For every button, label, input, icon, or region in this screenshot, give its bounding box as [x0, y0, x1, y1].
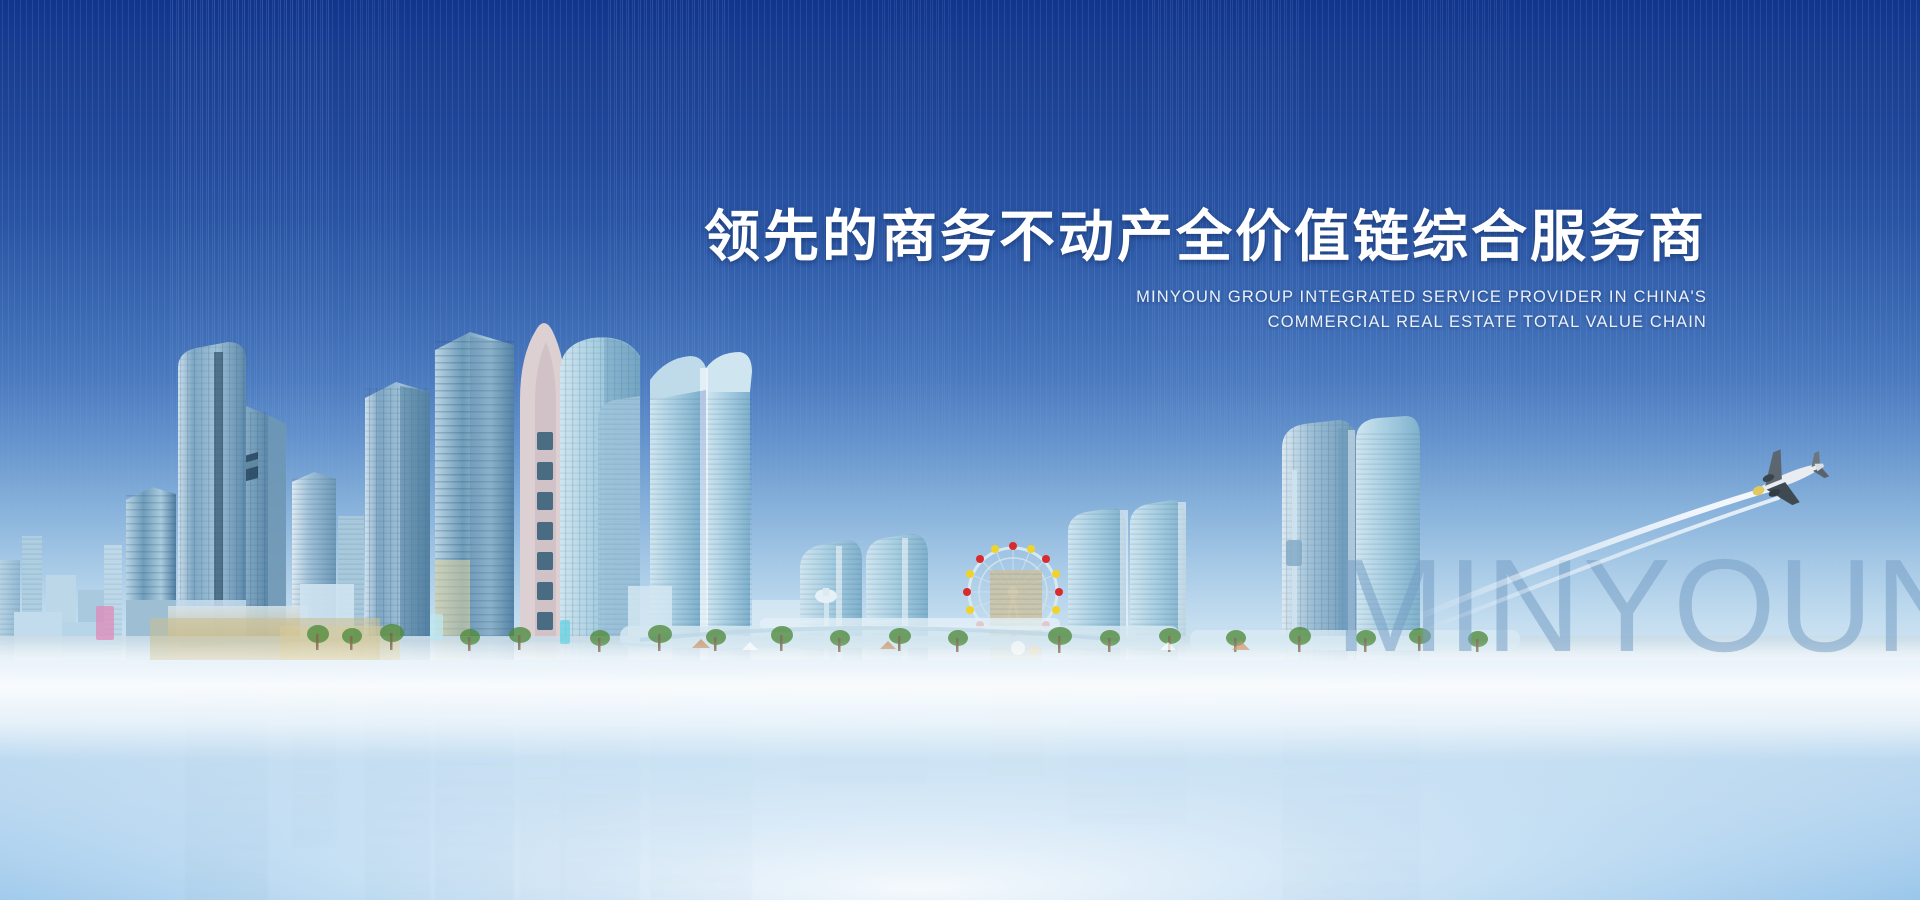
subtitle-line-1: MINYOUN GROUP INTEGRATED SERVICE PROVIDE…	[0, 285, 1707, 310]
subtitle-english: MINYOUN GROUP INTEGRATED SERVICE PROVIDE…	[0, 285, 1707, 335]
banner-root: MINYOUN 领先的商务不动产全价值链综合	[0, 0, 1920, 900]
subtitle-line-2: COMMERCIAL REAL ESTATE TOTAL VALUE CHAIN	[0, 310, 1707, 335]
headline-block: 领先的商务不动产全价值链综合服务商 MINYOUN GROUP INTEGRAT…	[0, 206, 1707, 335]
water-surface	[0, 660, 1920, 900]
minyoun-watermark: MINYOUN	[1335, 540, 1920, 672]
headline-chinese: 领先的商务不动产全价值链综合服务商	[0, 206, 1707, 269]
